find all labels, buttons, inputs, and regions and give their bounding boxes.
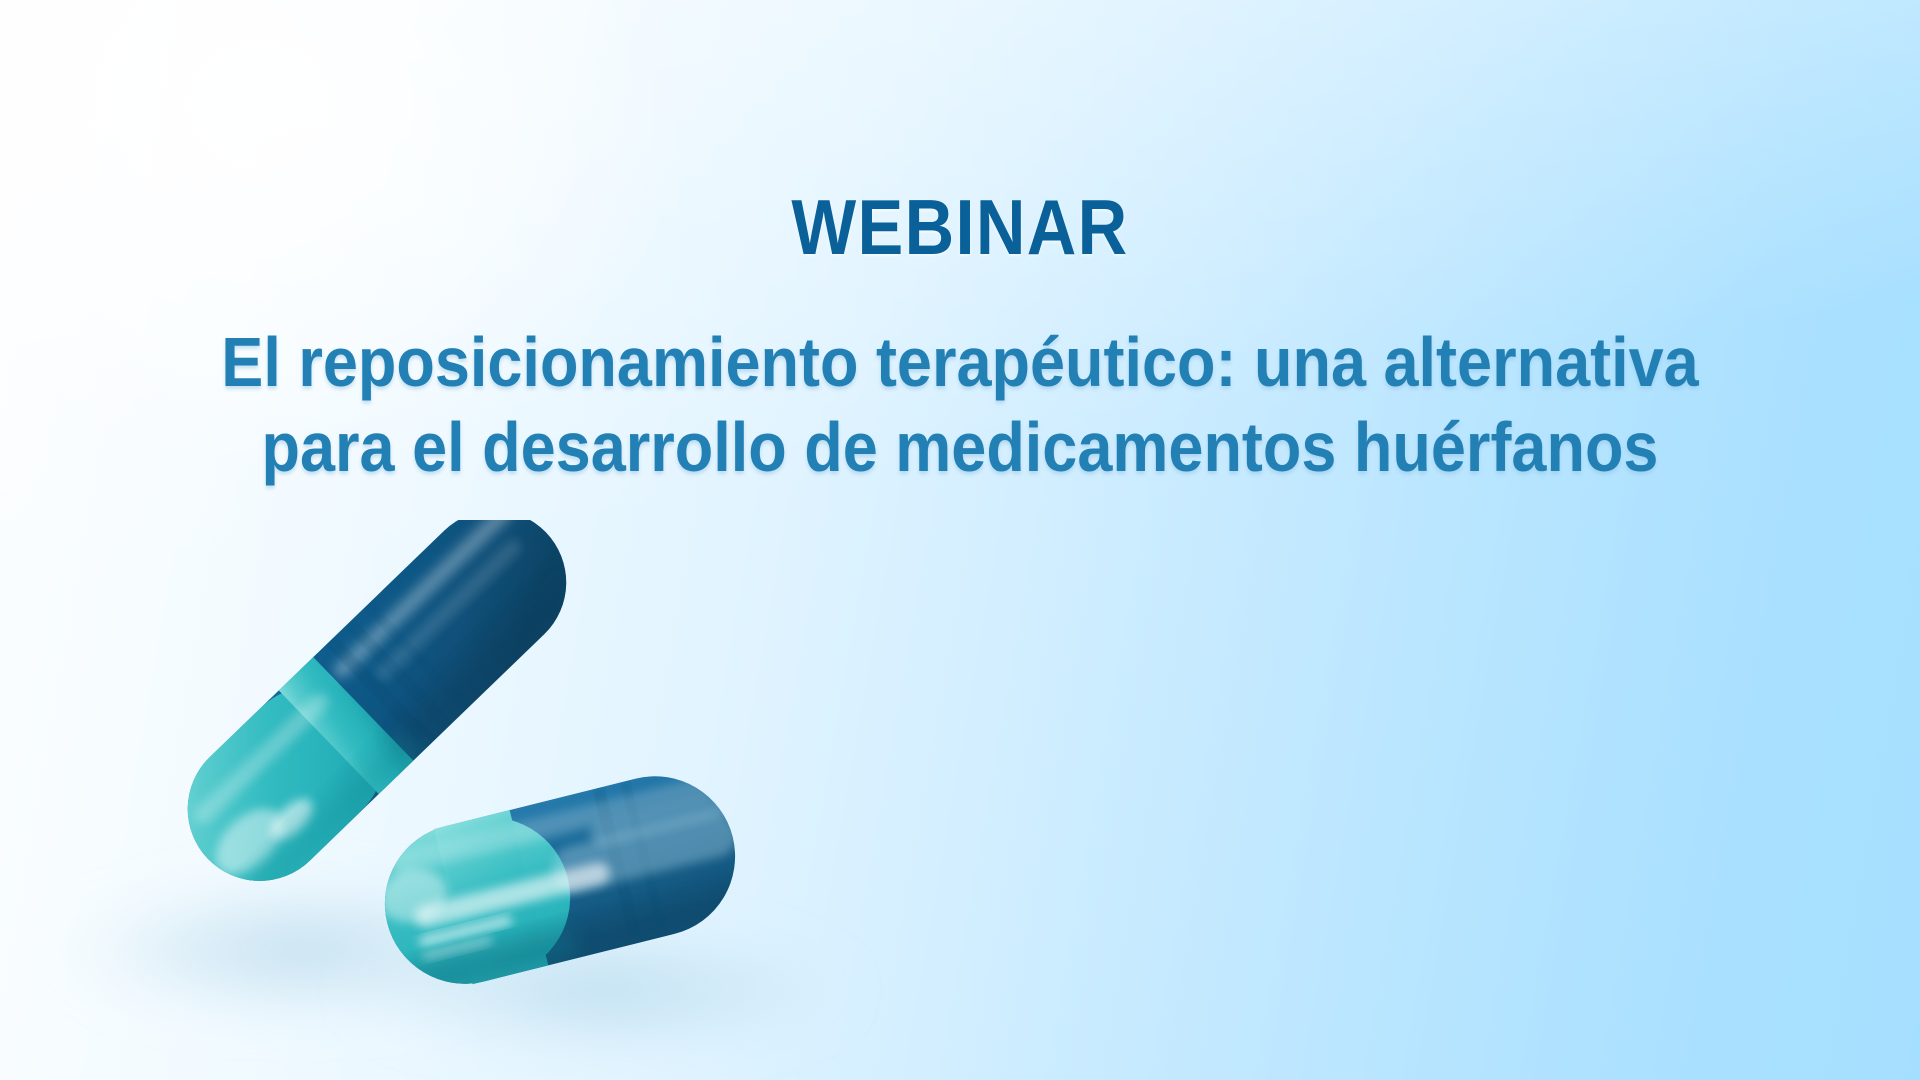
capsule-back: [158, 520, 596, 911]
webinar-banner: WEBINAR El reposicionamiento terapéutico…: [0, 0, 1920, 1080]
eyebrow-label: WEBINAR: [150, 188, 1769, 266]
pill-capsules-image: [0, 520, 920, 1080]
capsule-shadow-front: [340, 924, 860, 1056]
banner-text-block: WEBINAR El reposicionamiento terapéutico…: [0, 188, 1920, 491]
headline-line-2: para el desarrollo de medicamentos huérf…: [132, 405, 1788, 490]
capsule-front: [368, 759, 752, 1000]
headline-line-1: El reposicionamiento terapéutico: una al…: [132, 320, 1788, 405]
page-title: El reposicionamiento terapéutico: una al…: [132, 320, 1788, 491]
capsule-shadow-back: [50, 878, 550, 1022]
